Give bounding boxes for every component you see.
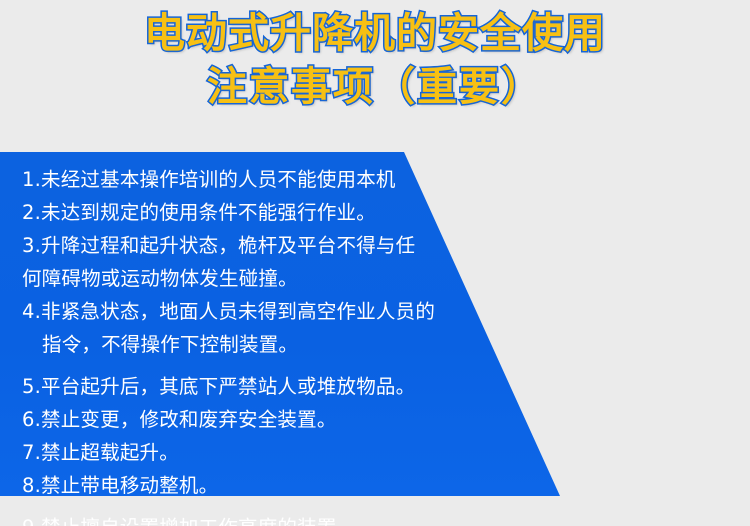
rule-text: 禁止超载起升。 xyxy=(41,441,179,464)
list-item: 1.未经过基本操作培训的人员不能使用本机 xyxy=(0,163,520,196)
rule-text: 禁止擅自设置增加工作高度的装置。 xyxy=(41,516,356,526)
list-item: 3.升降过程和起升状态，桅杆及平台不得与任何障碍物或运动物体发生碰撞。 xyxy=(0,229,520,295)
safety-rules-list: 1.未经过基本操作培训的人员不能使用本机2.未达到规定的使用条件不能强行作业。3… xyxy=(0,152,520,508)
list-item: 8.禁止带电移动整机。 xyxy=(0,469,520,502)
title-line-2: 注意事项（重要） xyxy=(0,60,750,114)
rule-number: 4. xyxy=(22,300,41,323)
rule-number: 3. xyxy=(22,234,41,257)
rule-text-continuation: 何障碍物或运动物体发生碰撞。 xyxy=(22,262,520,295)
list-item: 5.平台起升后，其底下严禁站人或堆放物品。 xyxy=(0,370,520,403)
rule-number: 7. xyxy=(22,441,41,464)
rule-text: 未达到规定的使用条件不能强行作业。 xyxy=(41,201,376,224)
rule-text-continuation: 指令，不得操作下控制装置。 xyxy=(22,328,520,361)
rule-text: 升降过程和起升状态，桅杆及平台不得与任 xyxy=(41,234,415,257)
rule-text: 禁止带电移动整机。 xyxy=(41,474,218,497)
rule-text: 禁止变更，修改和废弃安全装置。 xyxy=(41,408,337,431)
rule-text: 平台起升后，其底下严禁站人或堆放物品。 xyxy=(41,375,415,398)
list-item: 7.禁止超载起升。 xyxy=(0,436,520,469)
rule-number: 5. xyxy=(22,375,41,398)
title-line-1: 电动式升降机的安全使用 xyxy=(0,6,750,60)
rule-number: 6. xyxy=(22,408,41,431)
rule-number: 8. xyxy=(22,474,41,497)
list-item: 6.禁止变更，修改和废弃安全装置。 xyxy=(0,403,520,436)
rule-number: 9. xyxy=(22,516,41,526)
rule-number: 1. xyxy=(22,168,41,191)
rule-number: 2. xyxy=(22,201,41,224)
rule-text: 非紧急状态，地面人员未得到高空作业人员的 xyxy=(41,300,435,323)
list-item: 9.禁止擅自设置增加工作高度的装置。 xyxy=(0,511,520,526)
list-item: 4.非紧急状态，地面人员未得到高空作业人员的指令，不得操作下控制装置。 xyxy=(0,295,520,361)
poster-canvas: 电动式升降机的安全使用 注意事项（重要） 1.未经过基本操作培训的人员不能使用本… xyxy=(0,0,750,526)
poster-title: 电动式升降机的安全使用 注意事项（重要） xyxy=(0,6,750,114)
rule-text: 未经过基本操作培训的人员不能使用本机 xyxy=(41,168,396,191)
list-item: 2.未达到规定的使用条件不能强行作业。 xyxy=(0,196,520,229)
